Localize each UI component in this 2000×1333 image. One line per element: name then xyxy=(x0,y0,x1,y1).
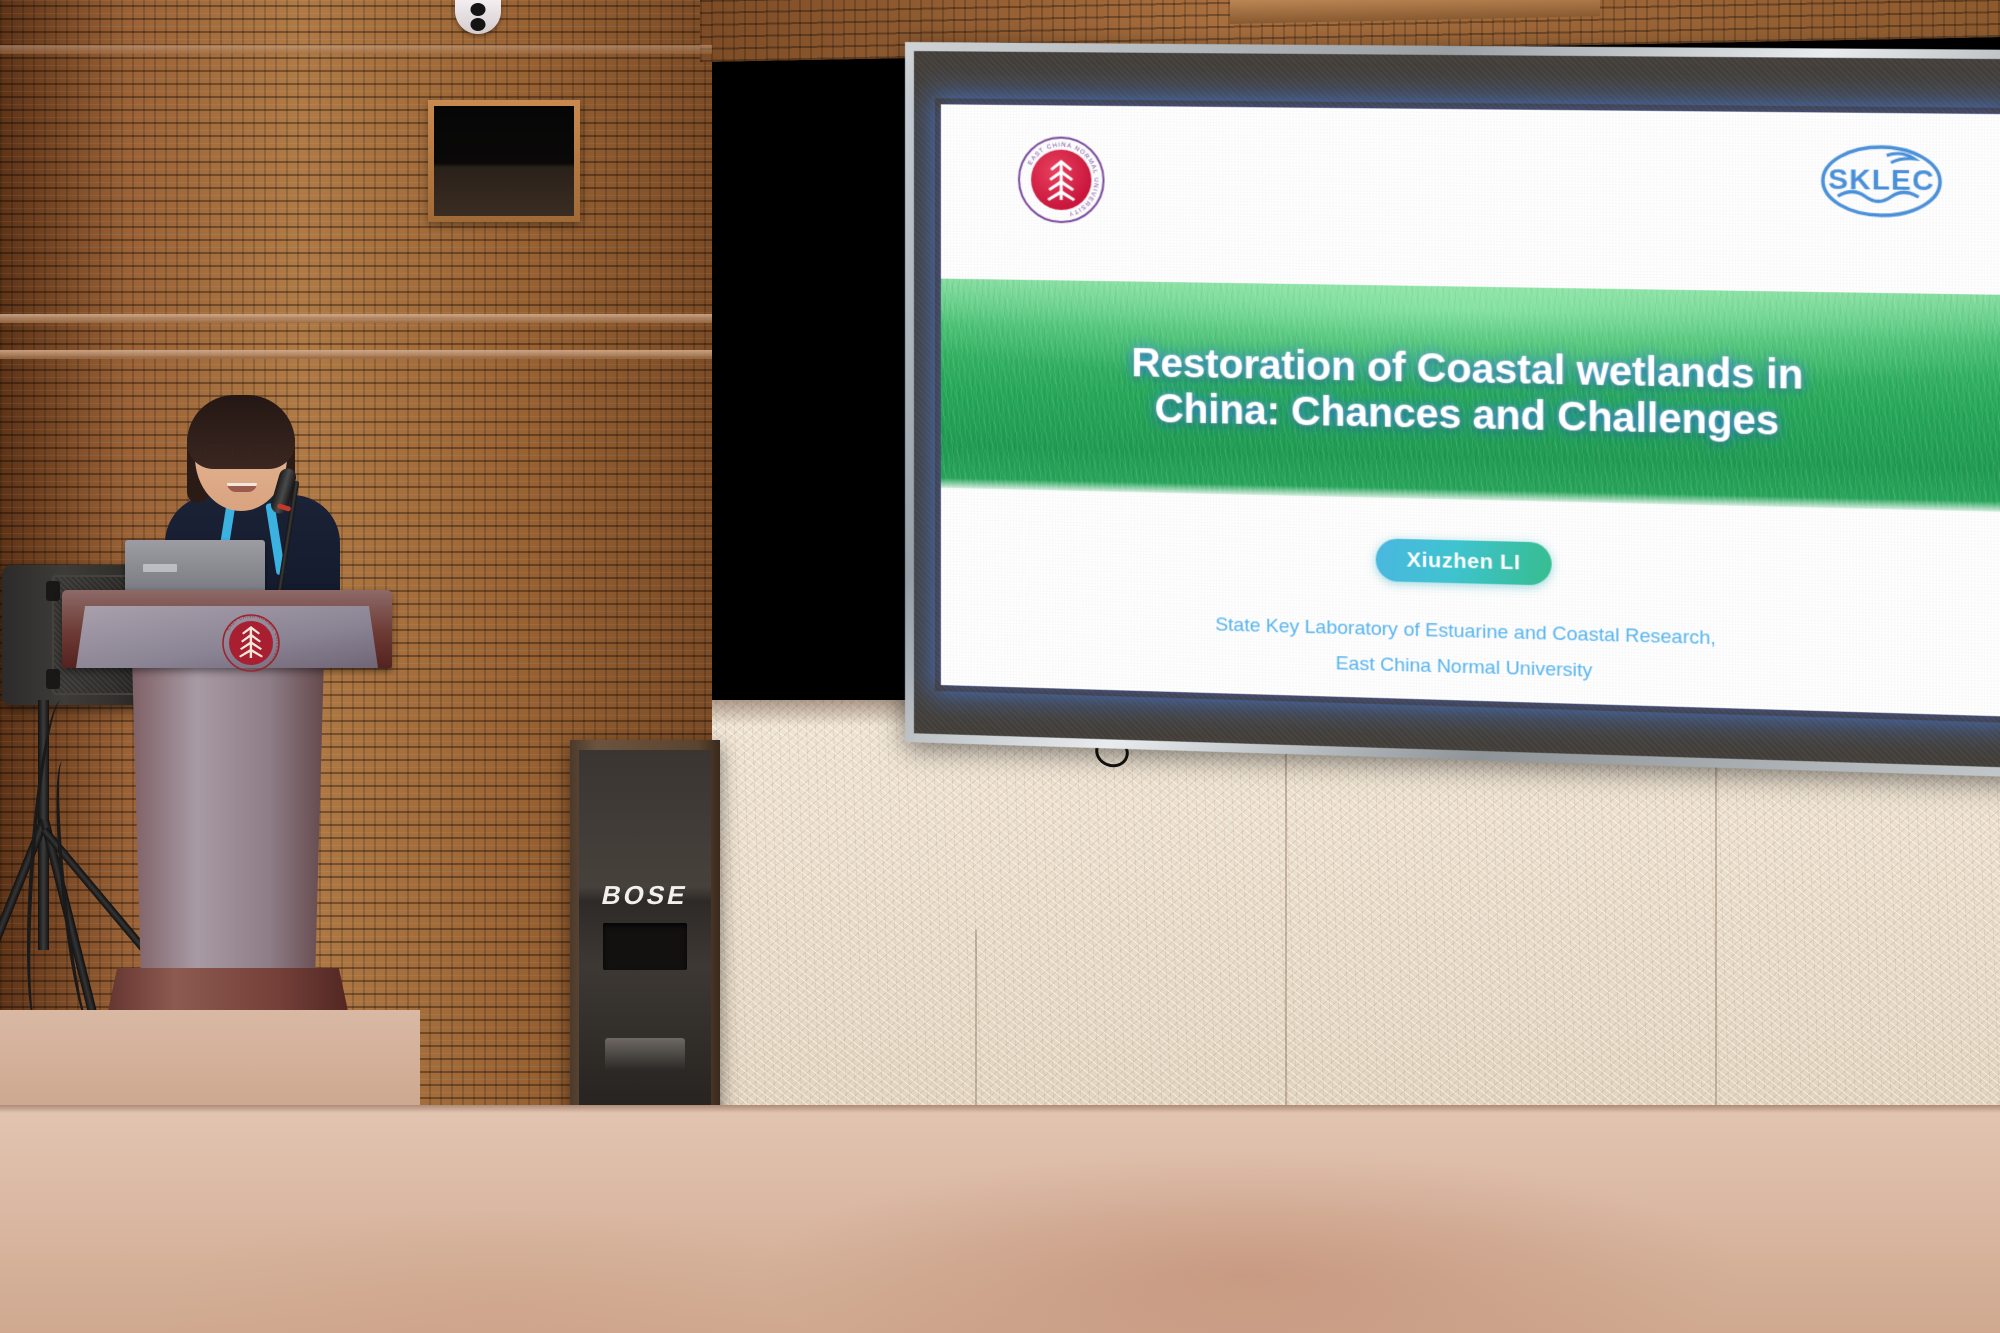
glasses-icon xyxy=(205,445,277,461)
bose-speaker-cabinet: BOSE xyxy=(570,740,720,1120)
slide-header: EAST CHINA NORMAL UNIVERSITY xyxy=(941,104,2000,294)
author-badge: Xiuzhen LI xyxy=(1376,538,1552,585)
presentation-slide: EAST CHINA NORMAL UNIVERSITY xyxy=(941,104,2000,716)
bose-logo: BOSE xyxy=(599,880,691,911)
floor-edge xyxy=(0,1105,2000,1113)
screen-display-area[interactable]: EAST CHINA NORMAL UNIVERSITY xyxy=(941,104,2000,716)
wall-niche xyxy=(428,100,580,222)
ecnu-logo-icon: EAST CHINA NORMAL UNIVERSITY xyxy=(1018,136,1105,223)
slide-title: Restoration of Coastal wetlands in China… xyxy=(1105,341,1831,447)
slide-footer: Xiuzhen LI State Key Laboratory of Estua… xyxy=(941,488,2000,717)
podium: EAST CHINA NORMAL UNIVERSITY xyxy=(62,590,392,1070)
podium-ecnu-emblem-icon: EAST CHINA NORMAL UNIVERSITY xyxy=(214,612,288,674)
speaker-vent xyxy=(605,1038,684,1070)
affiliation-block: State Key Laboratory of Estuarine and Co… xyxy=(941,600,2000,701)
sklec-logo-icon: SKLEC xyxy=(1812,134,1950,225)
projection-screen[interactable]: EAST CHINA NORMAL UNIVERSITY xyxy=(905,42,2000,778)
podium-top: EAST CHINA NORMAL UNIVERSITY xyxy=(62,590,392,668)
speaker-port xyxy=(603,923,687,970)
wall-trim-band-3 xyxy=(0,45,712,54)
laptop[interactable] xyxy=(125,540,265,592)
laptop-logo xyxy=(143,564,177,572)
podium-column xyxy=(124,668,332,968)
presentation-scene: EAST CHINA NORMAL UNIVERSITY xyxy=(0,0,2000,1333)
panel-seam-1 xyxy=(1285,700,1287,1130)
presenter-mouth xyxy=(227,483,257,492)
svg-text:SKLEC: SKLEC xyxy=(1828,163,1934,196)
wall-trim-band-1 xyxy=(0,314,712,323)
panel-seam-3 xyxy=(975,930,977,1130)
stage-floor xyxy=(0,1105,2000,1333)
wall-trim-band-2 xyxy=(0,350,712,359)
slide-title-banner: Restoration of Coastal wetlands in China… xyxy=(941,279,2000,512)
